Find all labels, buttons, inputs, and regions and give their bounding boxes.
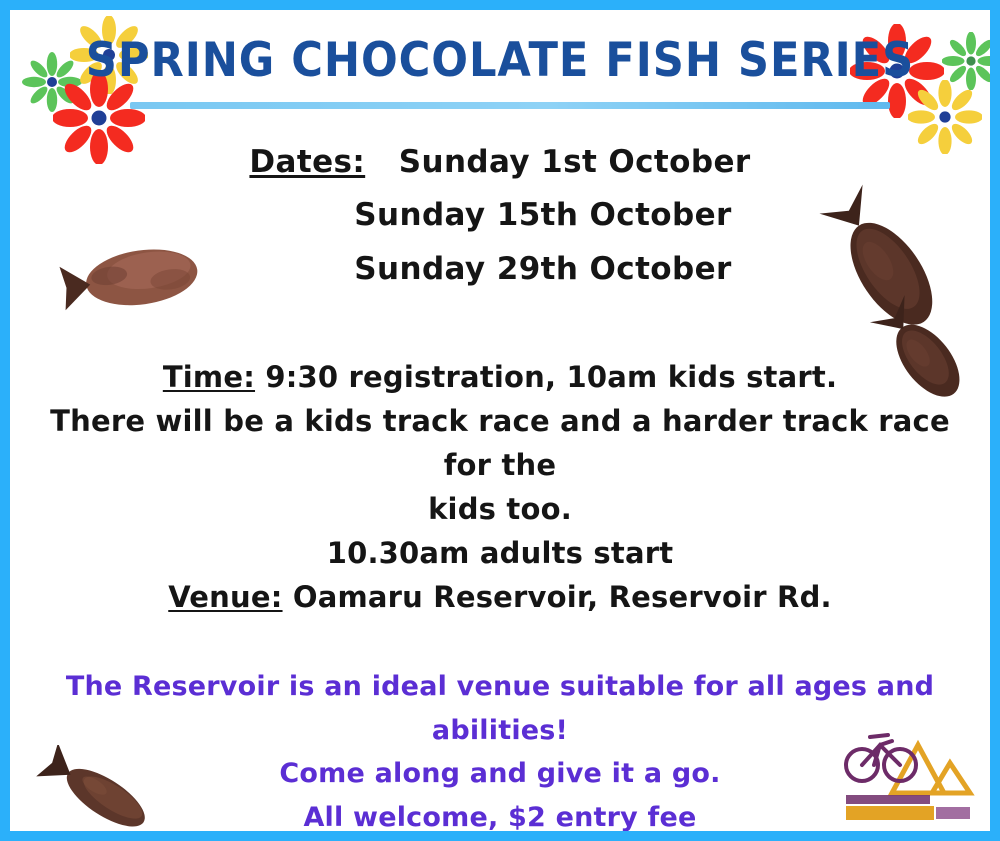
dates-value-1: Sunday 1st October xyxy=(399,144,751,180)
dates-row-1: Dates: Sunday 1st October xyxy=(10,136,990,189)
mountain-biking-logo xyxy=(840,719,976,823)
dates-section: Dates: Sunday 1st October Sunday 15th Oc… xyxy=(10,136,990,296)
dates-label: Dates: xyxy=(249,144,365,180)
adults-start-line: 10.30am adults start xyxy=(32,531,968,575)
logo-bottom-text xyxy=(846,806,970,820)
poster-canvas: SPRING CHOCOLATE FISH SERIES xyxy=(10,10,990,831)
time-line: Time: 9:30 registration, 10am kids start… xyxy=(32,355,968,399)
poster-title-band: SPRING CHOCOLATE FISH SERIES xyxy=(10,36,990,85)
time-value: 9:30 registration, 10am kids start. xyxy=(265,360,837,394)
page-title: SPRING CHOCOLATE FISH SERIES xyxy=(49,36,951,85)
venue-line: Venue: Oamaru Reservoir, Reservoir Rd. xyxy=(32,575,968,619)
dates-value-3: Sunday 29th October xyxy=(354,251,731,287)
closing-line-2: abilities! xyxy=(65,709,935,753)
venue-value: Oamaru Reservoir, Reservoir Rd. xyxy=(293,580,832,614)
venue-label: Venue: xyxy=(168,580,282,614)
closing-line-1: The Reservoir is an ideal venue suitable… xyxy=(65,665,935,709)
poster-border: SPRING CHOCOLATE FISH SERIES xyxy=(0,0,1000,841)
closing-line-4: All welcome, $2 entry fee xyxy=(65,796,935,831)
logo-top-text xyxy=(846,795,930,804)
time-venue-section: Time: 9:30 registration, 10am kids start… xyxy=(10,355,990,619)
dates-value-2: Sunday 15th October xyxy=(354,197,731,233)
race-detail-line-2: kids too. xyxy=(32,487,968,531)
race-detail-line-1: There will be a kids track race and a ha… xyxy=(32,399,968,487)
time-label: Time: xyxy=(163,360,255,394)
title-divider-rule xyxy=(130,102,890,109)
dates-row-3: Sunday 29th October xyxy=(10,243,990,296)
dates-row-2: Sunday 15th October xyxy=(10,189,990,242)
closing-line-3: Come along and give it a go. xyxy=(65,752,935,796)
